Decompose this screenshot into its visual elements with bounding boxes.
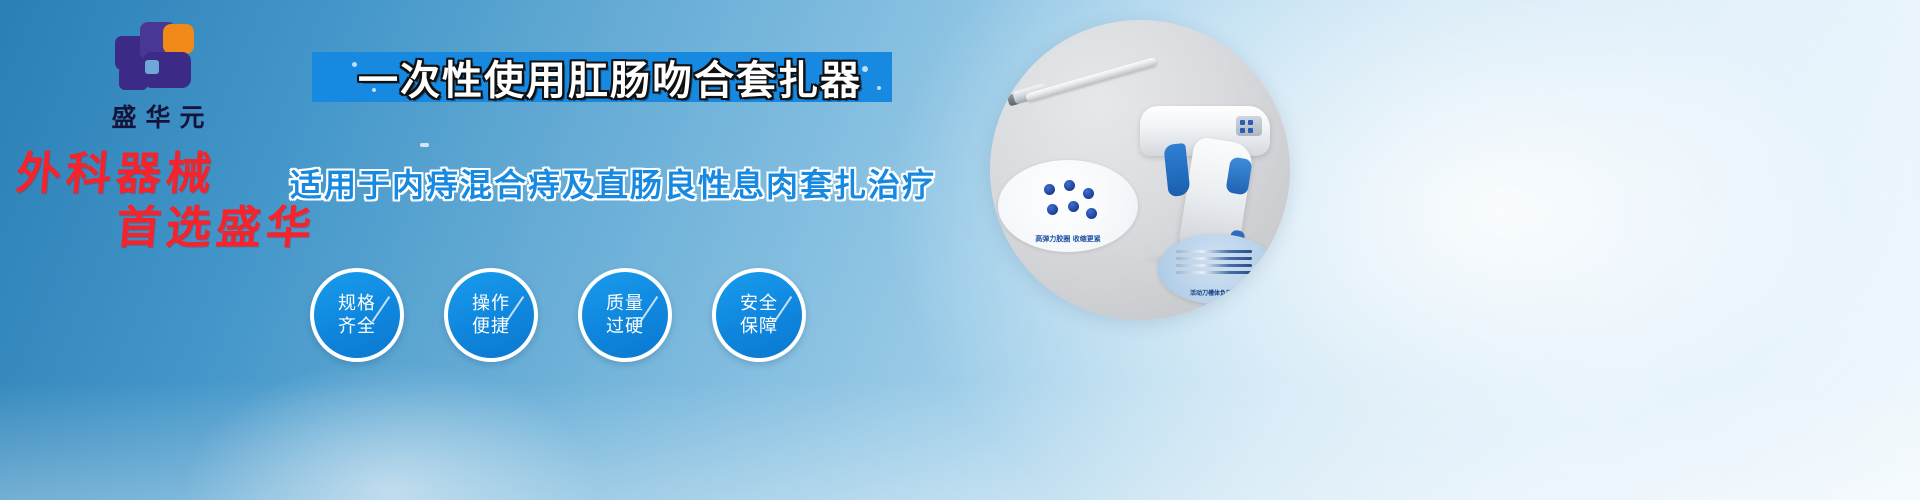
feature-badge-quality[interactable]: 质量 过硬 [578, 268, 672, 362]
bottom-glow [180, 360, 600, 500]
badge-line-2: 齐全 [338, 315, 376, 338]
page-title: 一次性使用肛肠吻合套扎器 [330, 48, 890, 106]
badge-line-2: 保障 [740, 315, 778, 338]
badge-line-1: 质量 [606, 292, 644, 315]
brand-name: 盛华元 [58, 98, 258, 134]
page-subtitle: 适用于内痔混合痔及直肠良性息肉套扎治疗 [290, 160, 910, 206]
inset-rubber-rings: 高弹力胶圈 收缩更紧 [998, 160, 1138, 252]
badge-line-1: 规格 [338, 292, 376, 315]
slogan-line-2: 首选盛华 [114, 202, 379, 254]
inset-needles-caption: 活动刀槽体负压吸引 [1158, 288, 1276, 297]
badge-line-1: 安全 [740, 292, 778, 315]
feature-badge-safety[interactable]: 安全 保障 [712, 268, 806, 362]
company-logo-icon [115, 22, 201, 94]
brand-logo[interactable]: 盛华元 [58, 22, 258, 134]
inset-rings-caption: 高弹力胶圈 收缩更紧 [998, 234, 1138, 244]
feature-badge-specs[interactable]: 规格 齐全 [310, 268, 404, 362]
badge-line-2: 便捷 [472, 315, 510, 338]
feature-badge-operation[interactable]: 操作 便捷 [444, 268, 538, 362]
inset-needles: 活动刀槽体负压吸引 [1158, 234, 1276, 304]
badge-line-1: 操作 [472, 292, 510, 315]
sparkle-icon [420, 143, 429, 147]
badge-line-2: 过硬 [606, 315, 644, 338]
feature-badge-list: 规格 齐全 操作 便捷 质量 过硬 安全 保障 [310, 268, 806, 362]
product-photo[interactable]: 高弹力胶圈 收缩更紧 活动刀槽体负压吸引 [990, 20, 1290, 320]
bottom-light-wash [0, 380, 1920, 500]
